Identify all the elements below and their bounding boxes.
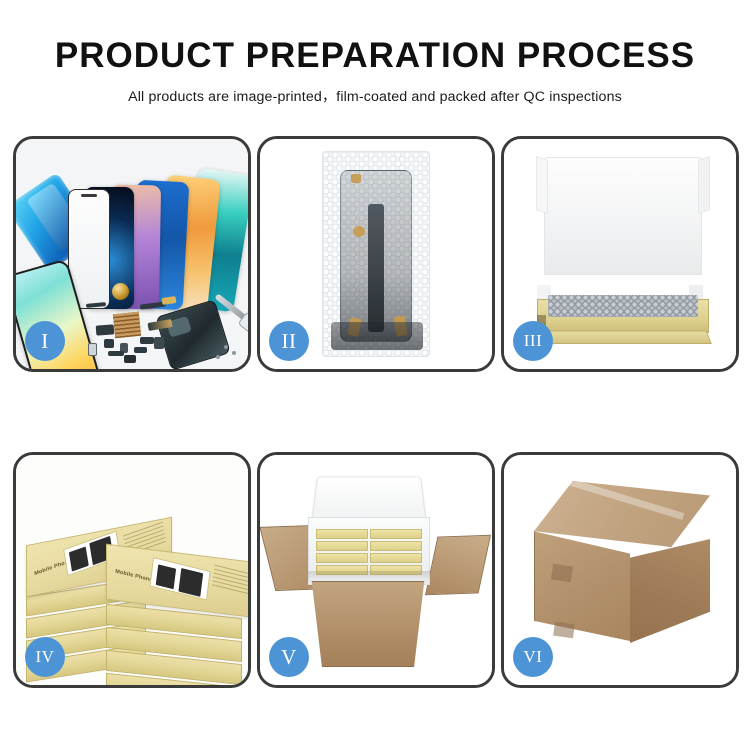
bag-bottom-shadow bbox=[331, 322, 423, 350]
process-step-panel-2: II bbox=[257, 136, 495, 372]
retail-box-edge bbox=[370, 541, 422, 551]
header: PRODUCT PREPARATION PROCESS All products… bbox=[0, 0, 750, 106]
screw-icon bbox=[216, 355, 220, 359]
retail-box-edge bbox=[370, 553, 422, 563]
mesh-grid-part bbox=[113, 312, 141, 339]
connector-part bbox=[104, 339, 114, 348]
process-step-panel-4: Mobile Phone Spare Parts Mobile Phone Sp… bbox=[13, 452, 251, 688]
process-step-panel-1: I bbox=[13, 136, 251, 372]
insert-shadow bbox=[308, 571, 430, 581]
carton-side-face bbox=[630, 539, 710, 643]
inner-box-front-panel bbox=[534, 331, 712, 344]
retail-box-edge bbox=[316, 541, 368, 551]
flex-cable-part bbox=[108, 351, 124, 356]
retail-box-window bbox=[149, 557, 210, 600]
box-column-left bbox=[316, 529, 368, 575]
sim-tray-part bbox=[88, 343, 97, 356]
notch-icon bbox=[81, 194, 97, 197]
step-badge-1: I bbox=[25, 321, 65, 361]
carton-flap-right bbox=[425, 535, 491, 596]
speaker-part bbox=[154, 337, 164, 349]
vibrator-part bbox=[124, 355, 136, 363]
step-badge-2: II bbox=[269, 321, 309, 361]
shipping-carton-body bbox=[304, 581, 432, 667]
phone-lineup bbox=[68, 149, 248, 309]
page-subtitle: All products are image-printed，film-coat… bbox=[0, 86, 750, 106]
carton-tape-mark bbox=[551, 564, 573, 583]
retail-box-spec-lines bbox=[212, 565, 248, 600]
bubble-wrapped-contents bbox=[548, 295, 698, 317]
screen-thumbnail bbox=[156, 564, 176, 589]
retail-box-edge bbox=[370, 529, 422, 539]
screen-thumbnail bbox=[69, 546, 89, 571]
carton-front-face bbox=[534, 529, 630, 641]
gold-tab bbox=[353, 226, 365, 237]
step-badge-4: IV bbox=[25, 637, 65, 677]
carton-tape-mark bbox=[553, 622, 575, 639]
screw-icon bbox=[232, 351, 236, 355]
gold-tab bbox=[351, 174, 361, 183]
screw-icon bbox=[224, 345, 228, 349]
page-title: PRODUCT PREPARATION PROCESS bbox=[0, 38, 750, 75]
process-step-grid: I II bbox=[13, 136, 737, 688]
packed-retail-boxes bbox=[316, 529, 422, 575]
bubble-wrap-bag bbox=[322, 151, 430, 357]
retail-box-edge bbox=[316, 553, 368, 563]
process-step-panel-3: III bbox=[501, 136, 739, 372]
retail-box-edge bbox=[316, 529, 368, 539]
foam-sheet-lid bbox=[544, 157, 702, 275]
product-preparation-infographic: PRODUCT PREPARATION PROCESS All products… bbox=[0, 0, 750, 750]
connector-part bbox=[134, 347, 147, 353]
screen-thumbnail bbox=[178, 568, 203, 597]
connector-part bbox=[96, 324, 115, 335]
copper-coil-part-icon bbox=[112, 283, 129, 300]
connector-part bbox=[140, 337, 154, 344]
process-step-panel-6: VI bbox=[501, 452, 739, 688]
part-flex-ribbon bbox=[368, 204, 384, 332]
box-column-right bbox=[370, 529, 422, 575]
step-badge-5: V bbox=[269, 637, 309, 677]
step-badge-3: III bbox=[513, 321, 553, 361]
process-step-panel-5: V bbox=[257, 452, 495, 688]
step-badge-6: VI bbox=[513, 637, 553, 677]
